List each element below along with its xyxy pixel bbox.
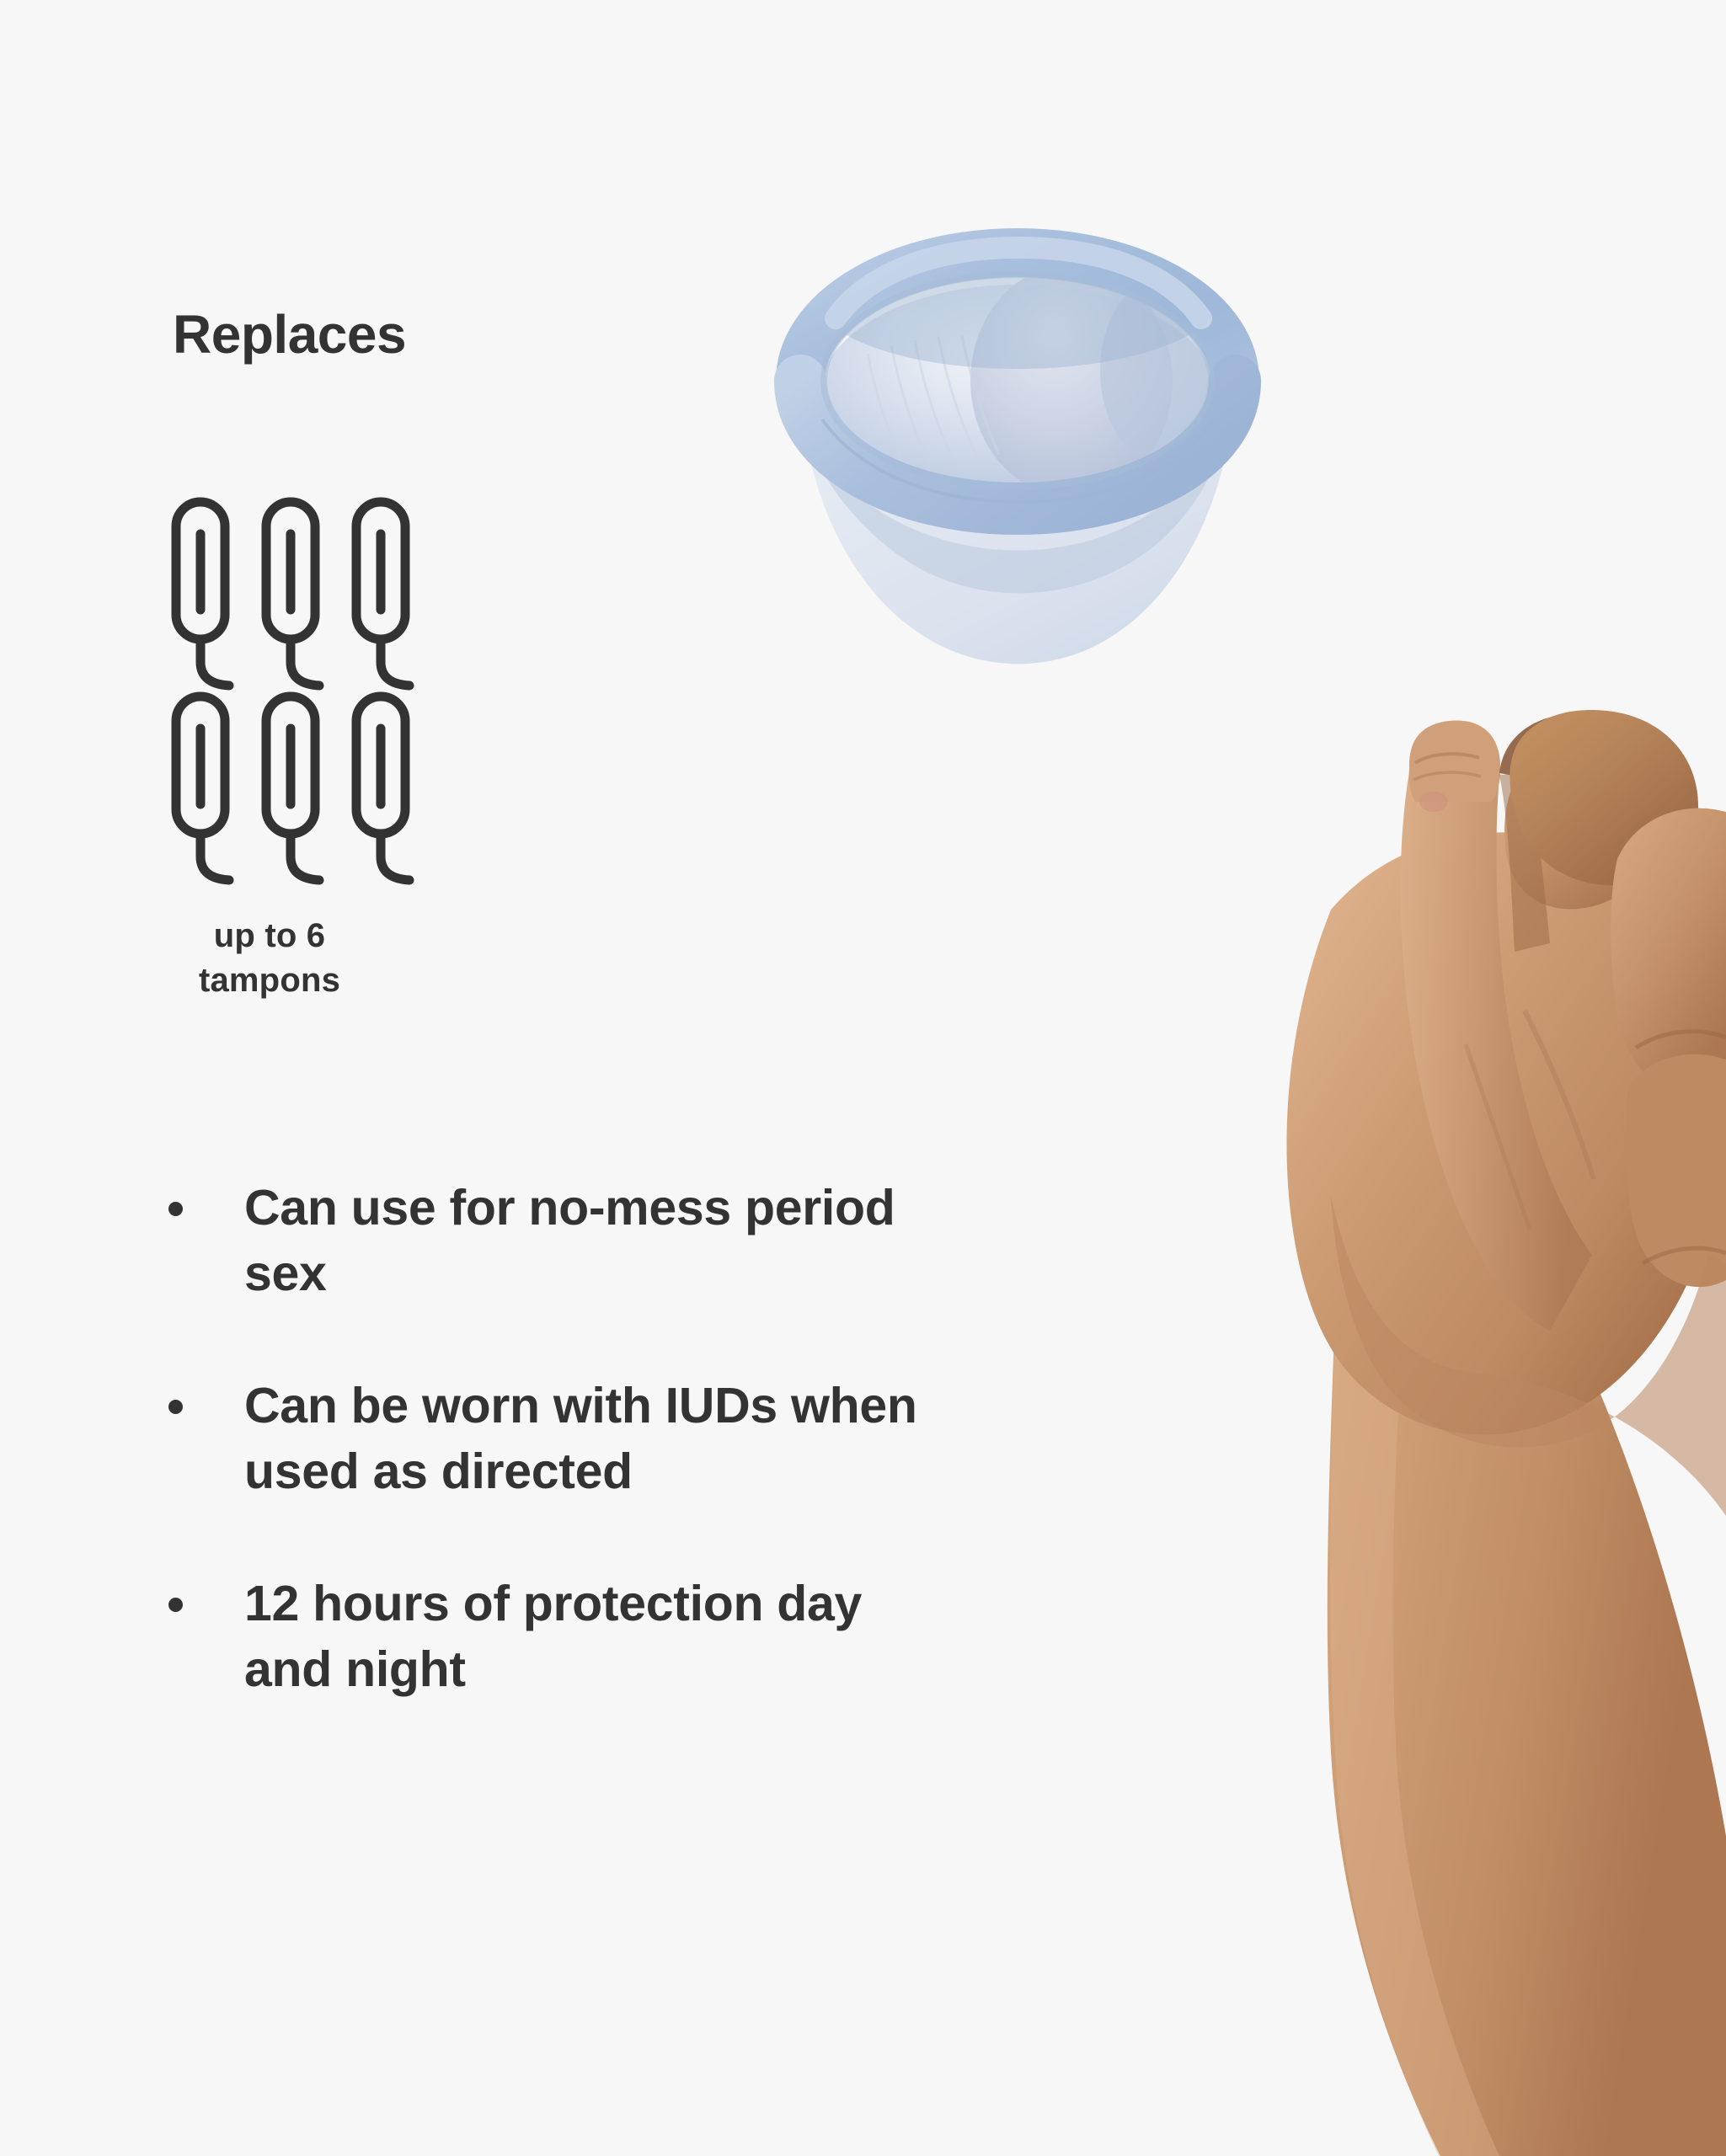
- tampon-icon: [259, 691, 349, 886]
- page-title: Replaces: [173, 307, 406, 361]
- bullet-dot-icon: [168, 1202, 183, 1216]
- page-canvas: Replaces: [0, 0, 1726, 2156]
- bullet-dot-icon: [168, 1400, 183, 1414]
- tampon-icon: [349, 691, 439, 886]
- bullet-dot-icon: [168, 1598, 183, 1612]
- tampon-icon: [349, 497, 439, 691]
- replaces-caption-line-1: up to 6: [114, 914, 425, 958]
- tampon-icon-grid: [168, 497, 439, 886]
- index-fingertip: [1409, 720, 1500, 802]
- replaces-caption: up to 6 tampons: [114, 914, 425, 1003]
- fingertip-mark: [1419, 792, 1448, 812]
- tampon-icon: [168, 497, 259, 691]
- product-photo: [741, 0, 1726, 2156]
- replaces-caption-line-2: tampons: [114, 958, 425, 1003]
- tampon-icon: [168, 691, 259, 886]
- tampon-icon: [259, 497, 349, 691]
